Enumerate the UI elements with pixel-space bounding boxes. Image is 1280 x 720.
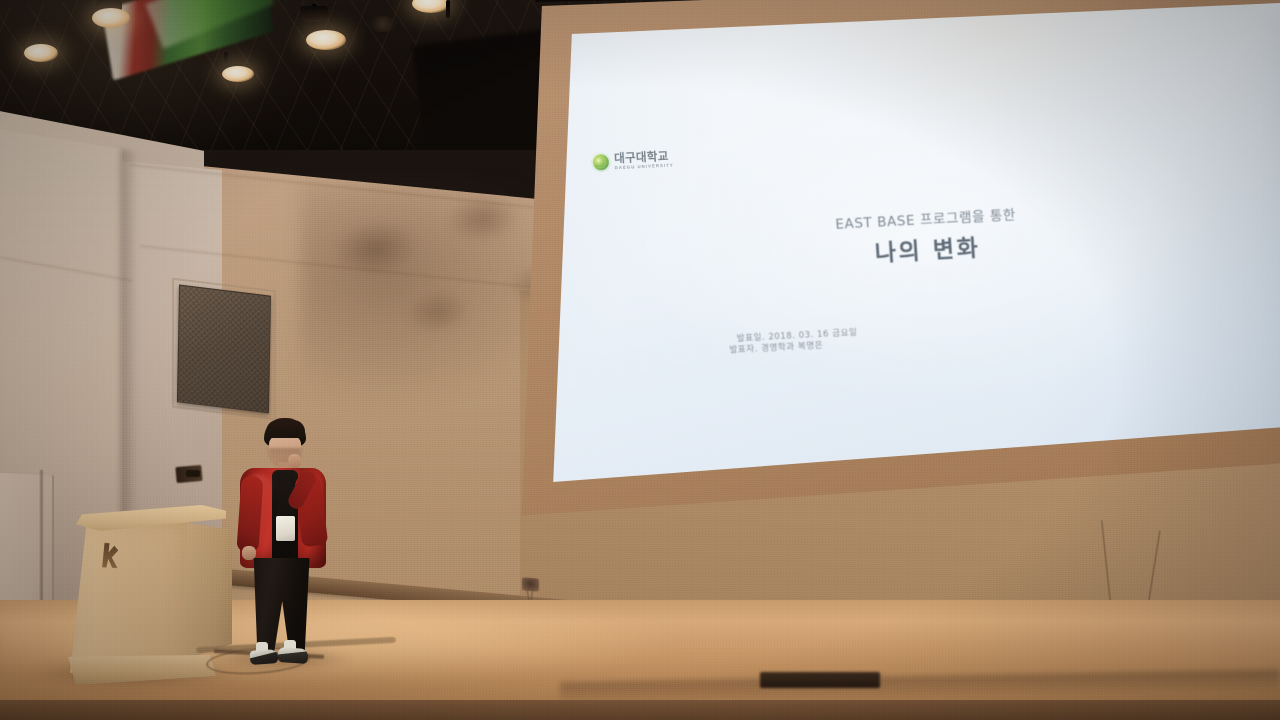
presenter-shoe-left	[250, 649, 279, 665]
presenter	[228, 418, 338, 680]
projection-screen: 대구대학교 DAEGU UNIVERSITY EAST BASE 프로그램을 통…	[486, 0, 1280, 558]
vent-mesh-icon	[178, 286, 270, 413]
ceiling-dim-fixture	[368, 16, 398, 32]
lectern-base	[62, 655, 216, 685]
spotlight-icon	[306, 30, 346, 50]
spotlight-icon	[24, 44, 58, 62]
lectern-front	[70, 521, 188, 673]
stage-front-edge	[0, 700, 1280, 720]
floor-equipment	[760, 672, 880, 688]
spotlight-stem	[224, 52, 228, 66]
mic-stand-clamp	[186, 470, 200, 477]
slide-meta-block: 발표일. 2018. 03. 16 금요일 발표자. 경영학과 복명은	[736, 318, 1037, 355]
presenter-right-hand	[288, 454, 301, 468]
university-logo-text: 대구대학교 DAEGU UNIVERSITY	[614, 150, 674, 170]
spotlight-icon	[222, 66, 254, 82]
university-emblem-icon	[591, 152, 611, 172]
spotlight-icon	[92, 8, 130, 28]
presenter-shoe-right	[278, 647, 309, 664]
spotlight-housing	[300, 6, 328, 22]
presenter-name-badge	[276, 516, 295, 541]
wall-vent-panel	[177, 284, 271, 413]
spotlight-stem	[446, 0, 450, 18]
wall-outlet-icon	[522, 577, 539, 591]
university-logo: 대구대학교 DAEGU UNIVERSITY	[591, 150, 674, 173]
slide-title-block: EAST BASE 프로그램을 통한 나의 변화	[715, 197, 1138, 276]
presenter-fringe	[266, 420, 305, 438]
slide: 대구대학교 DAEGU UNIVERSITY EAST BASE 프로그램을 통…	[469, 0, 1280, 559]
university-name-english: DAEGU UNIVERSITY	[615, 163, 674, 170]
presenter-left-hand	[242, 546, 256, 560]
photo-scene: 대구대학교 DAEGU UNIVERSITY EAST BASE 프로그램을 통…	[0, 0, 1280, 720]
